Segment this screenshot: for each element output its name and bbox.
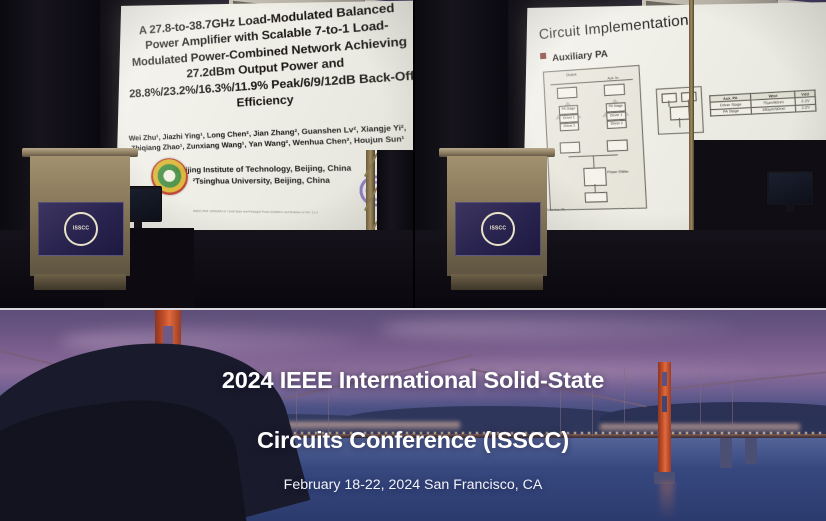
right-photo: Circuit Implementation Auxiliary PA Outp… (413, 0, 826, 308)
transformer-block (607, 139, 629, 151)
slide-title: Circuit Implementation (538, 11, 689, 42)
table-cell: 180μm/90nm (752, 105, 797, 114)
podium-body: ISSCC (447, 156, 547, 276)
transformer-block (557, 87, 578, 99)
photo-divider (413, 0, 415, 308)
slide-title: A 27.8-to-38.7GHz Load-Modulated Balance… (124, 0, 413, 118)
podium-base (451, 274, 543, 290)
left-photo: A 27.8-to-38.7GHz Load-Modulated Balance… (0, 0, 413, 308)
transformer-block (585, 192, 608, 203)
circuit-block (661, 93, 677, 103)
podium-logo-panel: ISSCC (38, 202, 124, 256)
slide-subtitle: Auxiliary PA (552, 47, 608, 63)
diagram-wire (593, 155, 594, 167)
table-cell: PA Stage (710, 107, 751, 116)
podium-body: ISSCC (30, 156, 130, 276)
podium-right: ISSCC (447, 148, 557, 308)
monitor-stand (786, 204, 794, 212)
banner-date-location: February 18-22, 2024 San Francisco, CA (0, 477, 826, 493)
isscc-logo-text: ISSCC (73, 227, 89, 232)
podium-base (34, 274, 126, 290)
transformer-block (604, 84, 625, 97)
monitor-screen (769, 173, 812, 204)
cloud (380, 318, 740, 340)
diagram-label-output: Output (566, 72, 577, 77)
tower-opening (662, 396, 667, 412)
transformer-block (560, 142, 581, 154)
banner-title-line1: 2024 IEEE International Solid-State (0, 367, 826, 394)
podium-left: ISSCC (30, 148, 140, 308)
diagram-label-phase-shifter: Phase Shifter (607, 169, 639, 174)
slide-footnote: ISSCC 2024 / SESSION 11 / Solid-State an… (149, 209, 367, 216)
conference-banner: 2024 IEEE International Solid-State Circ… (0, 308, 826, 521)
auxiliary-pa-block-diagram: Output Aux. In PA Stage Driver 1 Driver … (543, 65, 647, 211)
circuit-block (670, 106, 690, 121)
aux-pa-parameter-table: Aux. PA Wtot Vdd Driver Stage 75μm/90nm … (709, 89, 816, 116)
banner-title-line2: Circuits Conference (ISSCC) (0, 427, 826, 454)
driver2-block: Driver 2 (607, 120, 627, 129)
screenshot-root: A 27.8-to-38.7GHz Load-Modulated Balance… (0, 0, 826, 521)
table-cell: 2.2V (796, 104, 816, 112)
isscc-logo-text: ISSCC (490, 227, 506, 232)
confidence-monitor (766, 170, 814, 206)
secondary-circuit-diagram (656, 86, 704, 135)
driver2-block: Driver 2 (560, 122, 580, 131)
cable-hanger (296, 352, 297, 436)
bullet-square-marker (540, 53, 546, 60)
podium-logo-panel: ISSCC (455, 202, 541, 256)
